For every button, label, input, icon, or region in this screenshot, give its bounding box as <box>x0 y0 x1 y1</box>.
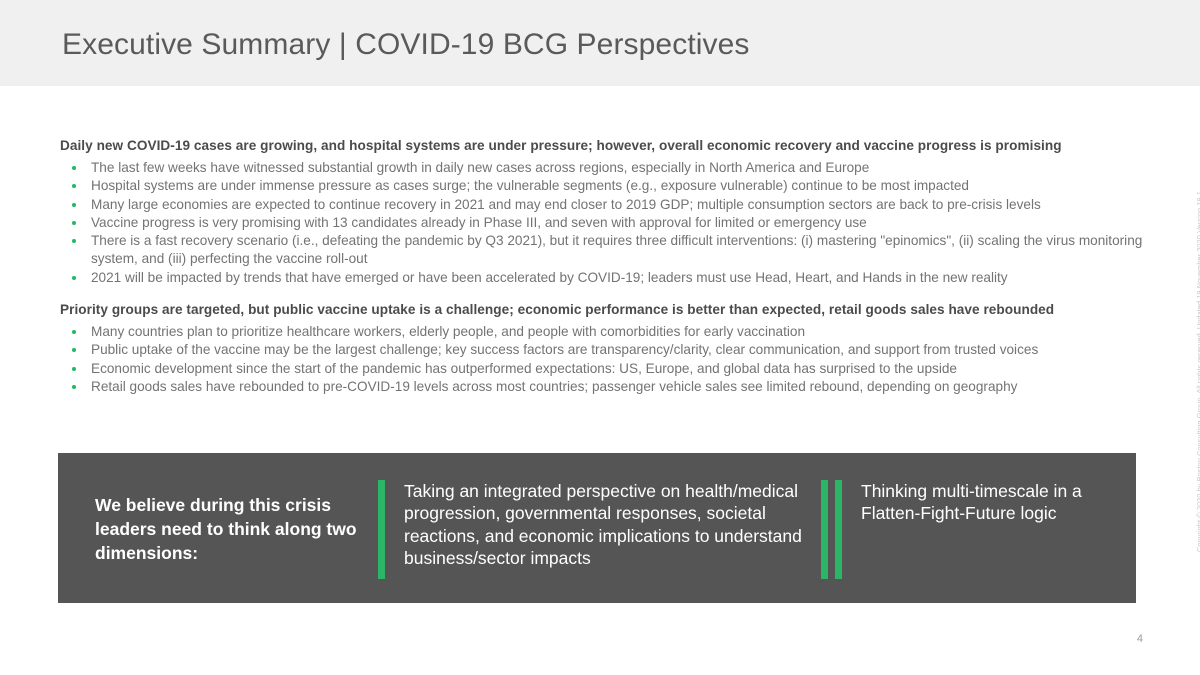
bullet-list: The last few weeks have witnessed substa… <box>60 159 1145 287</box>
accent-bar-icon <box>378 480 385 579</box>
list-item: 2021 will be impacted by trends that hav… <box>60 269 1145 287</box>
list-item-text: Public uptake of the vaccine may be the … <box>91 342 1038 357</box>
list-item-text: Retail goods sales have rebounded to pre… <box>91 379 1017 394</box>
bullet-dot-icon <box>72 276 76 280</box>
copyright-text: Copyright © 2020 by Boston Consulting Gr… <box>1195 191 1200 552</box>
callout-dimension-2: Thinking multi-timescale in a Flatten-Fi… <box>821 478 1136 579</box>
accent-bar-icon <box>835 480 842 579</box>
list-item: Retail goods sales have rebounded to pre… <box>60 378 1145 396</box>
list-item: The last few weeks have witnessed substa… <box>60 159 1145 177</box>
list-item-text: There is a fast recovery scenario (i.e.,… <box>91 233 1142 266</box>
list-item-text: Hospital systems are under immense press… <box>91 178 969 193</box>
page-number: 4 <box>1137 633 1143 645</box>
bullet-dot-icon <box>72 166 76 170</box>
callout-lead-text: We believe during this crisis leaders ne… <box>95 493 378 565</box>
callout-dimension-1-text: Taking an integrated perspective on heal… <box>404 480 821 570</box>
page-title: Executive Summary | COVID-19 BCG Perspec… <box>62 28 750 62</box>
bullet-dot-icon <box>72 348 76 352</box>
callout-dimension-1: Taking an integrated perspective on heal… <box>378 478 821 579</box>
list-item: Vaccine progress is very promising with … <box>60 214 1145 232</box>
list-item: Many countries plan to prioritize health… <box>60 323 1145 341</box>
list-item-text: 2021 will be impacted by trends that hav… <box>91 270 1008 285</box>
bullet-dot-icon <box>72 367 76 371</box>
bullet-dot-icon <box>72 203 76 207</box>
bullet-dot-icon <box>72 184 76 188</box>
list-item-text: Many large economies are expected to con… <box>91 197 1041 212</box>
accent-bar-group <box>378 480 385 579</box>
section-priority-groups: Priority groups are targeted, but public… <box>60 302 1145 396</box>
list-item: Economic development since the start of … <box>60 360 1145 378</box>
section-heading: Daily new COVID-19 cases are growing, an… <box>60 138 1145 153</box>
callout-lead-column: We believe during this crisis leaders ne… <box>58 491 378 565</box>
list-item: Hospital systems are under immense press… <box>60 177 1145 195</box>
list-item-text: The last few weeks have witnessed substa… <box>91 160 869 175</box>
bullet-dot-icon <box>72 330 76 334</box>
bullet-dot-icon <box>72 385 76 389</box>
list-item: Many large economies are expected to con… <box>60 196 1145 214</box>
header-band: Executive Summary | COVID-19 BCG Perspec… <box>0 0 1200 86</box>
list-item: There is a fast recovery scenario (i.e.,… <box>60 232 1145 269</box>
list-item-text: Many countries plan to prioritize health… <box>91 324 805 339</box>
list-item-text: Economic development since the start of … <box>91 361 957 376</box>
section-covid-cases: Daily new COVID-19 cases are growing, an… <box>60 138 1145 287</box>
callout-box: We believe during this crisis leaders ne… <box>58 453 1136 603</box>
copyright-strip: Copyright © 2020 by Boston Consulting Gr… <box>1181 0 1200 675</box>
bullet-dot-icon <box>72 239 76 243</box>
accent-bar-group <box>821 480 842 579</box>
list-item-text: Vaccine progress is very promising with … <box>91 215 867 230</box>
bullet-dot-icon <box>72 221 76 225</box>
accent-bar-icon <box>821 480 828 579</box>
callout-dimension-2-text: Thinking multi-timescale in a Flatten-Fi… <box>861 480 1136 525</box>
bullet-list: Many countries plan to prioritize health… <box>60 323 1145 396</box>
section-heading: Priority groups are targeted, but public… <box>60 302 1145 317</box>
list-item: Public uptake of the vaccine may be the … <box>60 341 1145 359</box>
